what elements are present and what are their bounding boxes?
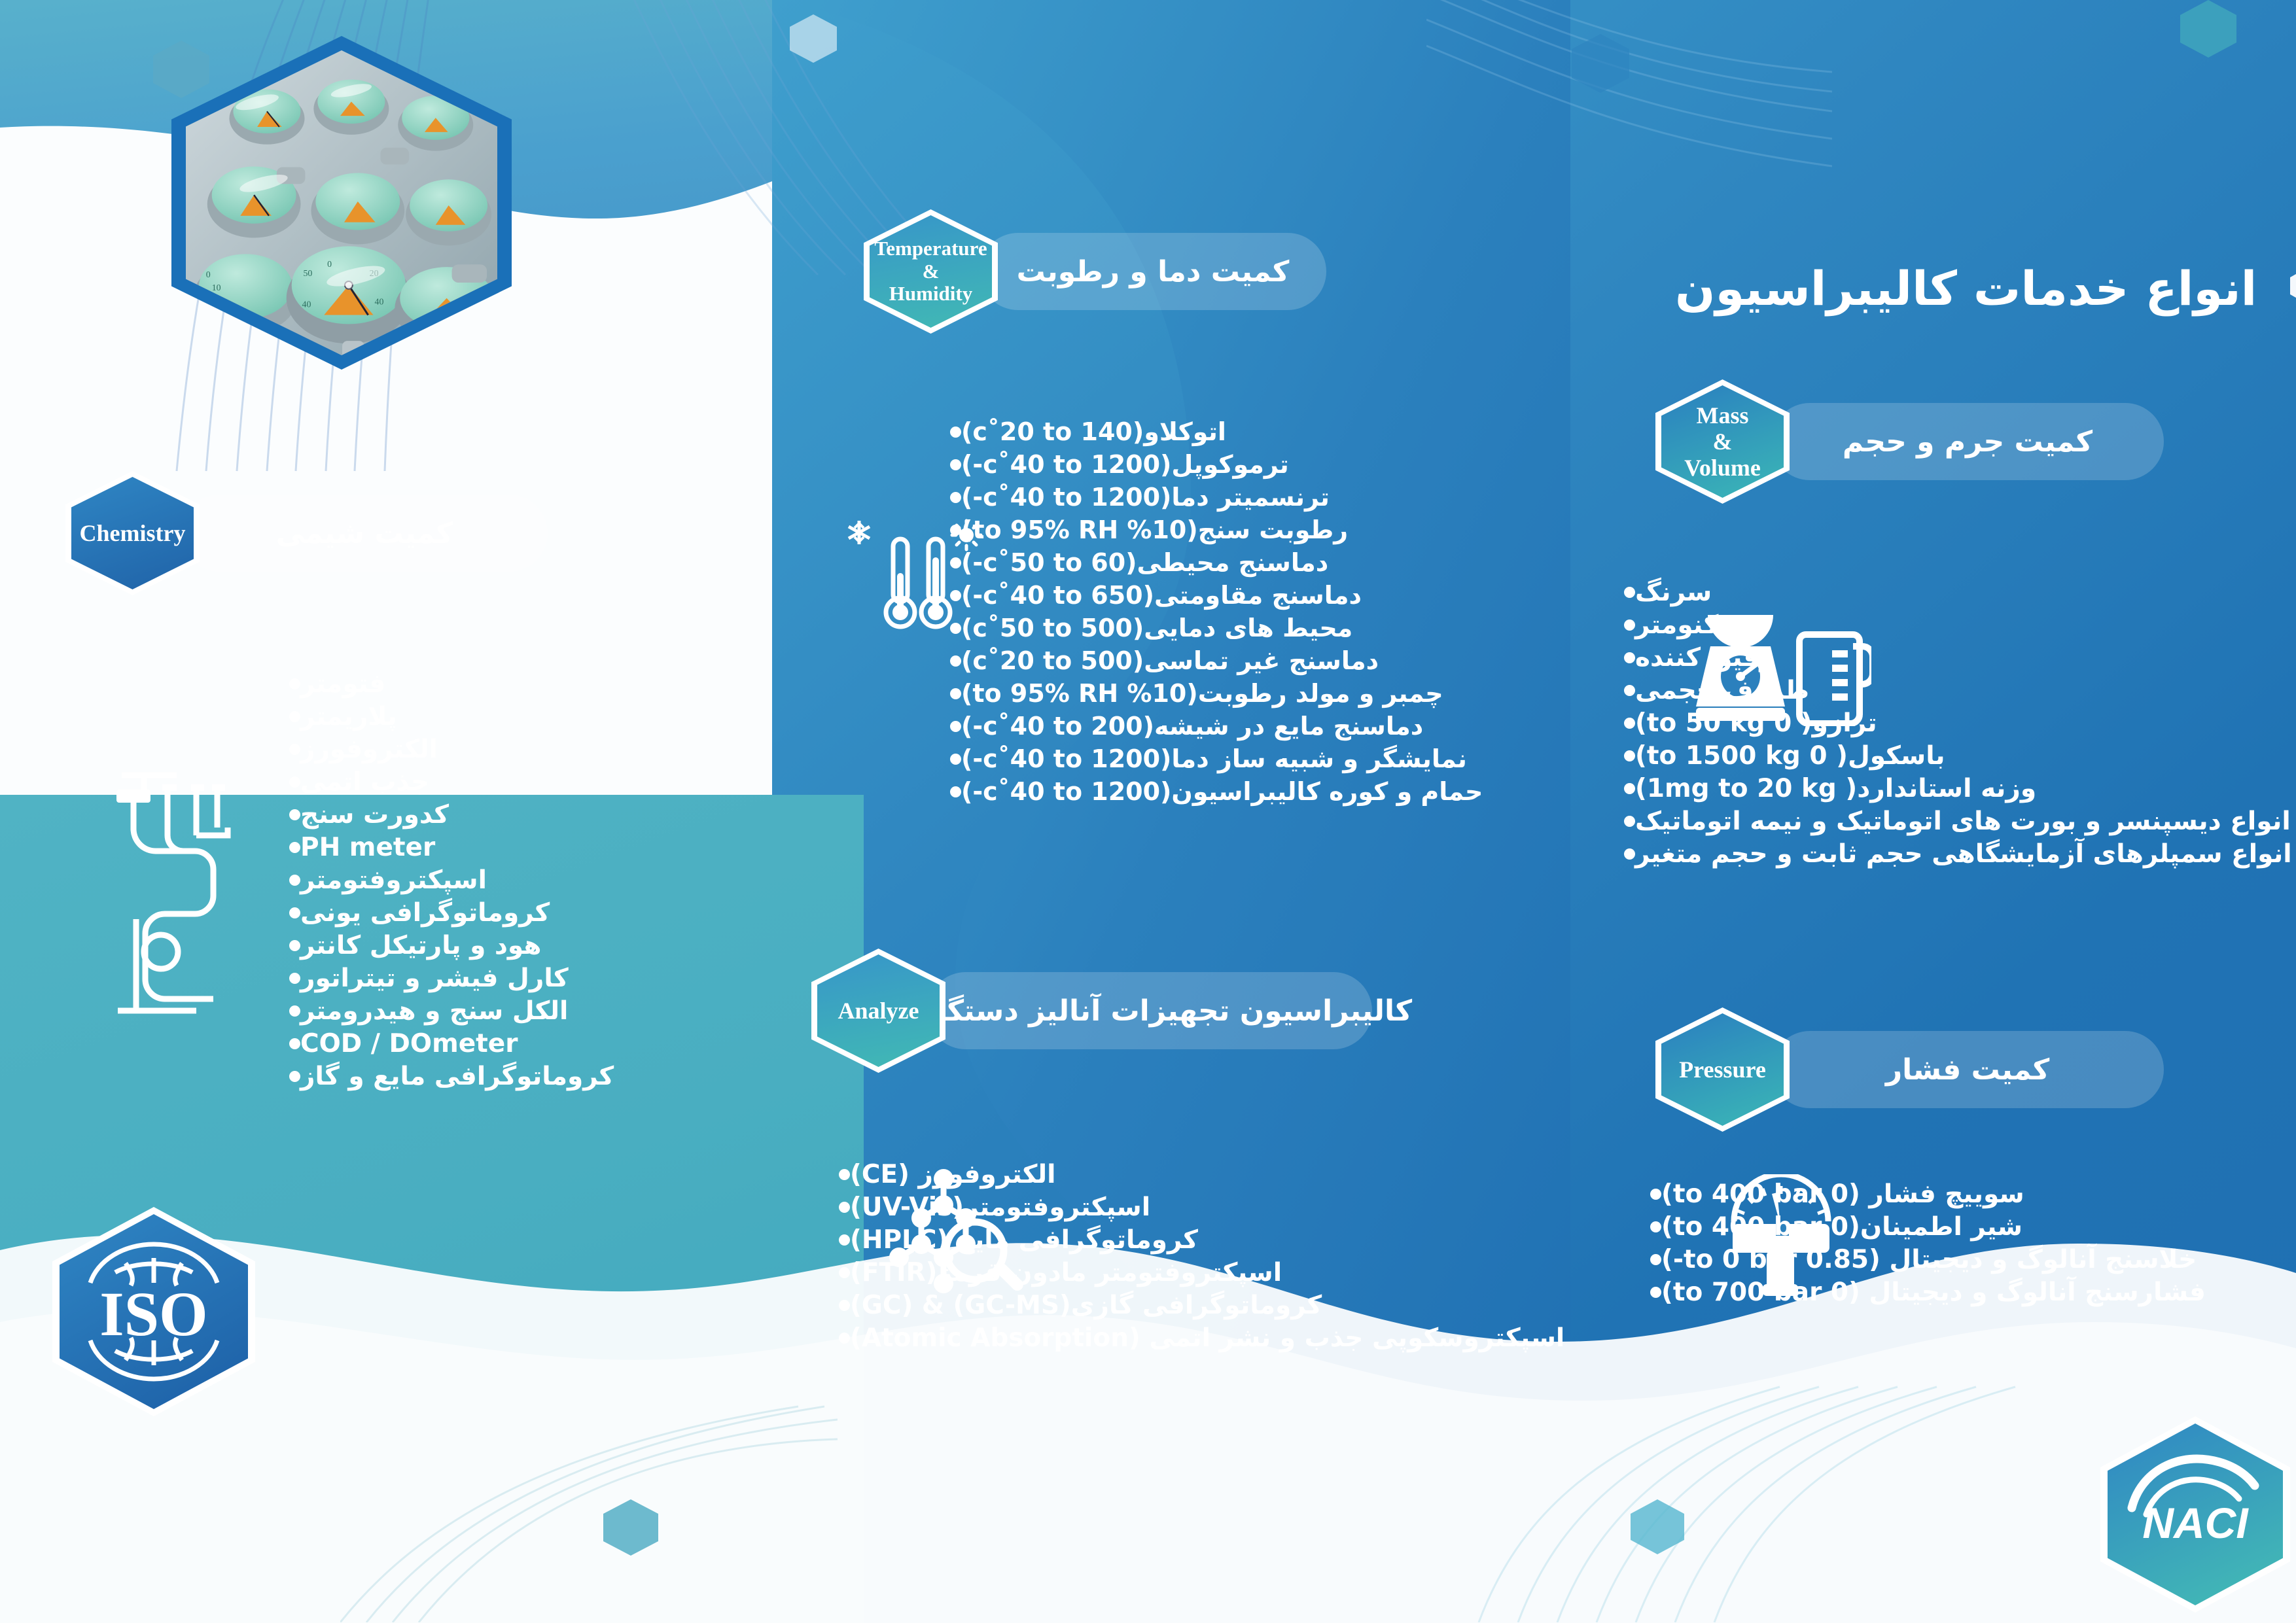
decor-hexagon-5 (602, 1498, 660, 1557)
list-item: دماسنج مقاومتی(c˚40 to 650-) (936, 579, 1459, 612)
list-item-label: کارل فیشر و تیتراتور (300, 964, 569, 993)
list-item: جذب اتمی (275, 765, 641, 798)
list-item-label: کروماتوگرافی گازی(GC-MS) & (GC) (850, 1291, 1322, 1320)
hero-photo-hexagon: 010 2030 5040 2040 0 (171, 36, 512, 370)
analyze-badge[interactable]: Analyze (811, 949, 945, 1073)
list-item: حمام و کوره کالیبراسیون(c˚40 to 1200-) (936, 775, 1459, 808)
mass-volume-badge[interactable]: Mass & Volume (1655, 379, 1790, 504)
bullet-dot (289, 678, 300, 689)
list-item-label: سرنگ (1635, 578, 1712, 607)
bullet-dot (289, 1071, 300, 1082)
list-item-label: خلاسنج آنالوگ و دیجیتال (0.85 to 0 bar-) (1661, 1245, 2197, 1274)
pressure-badge-label: Pressure (1679, 1056, 1766, 1083)
chemistry-list: فتومترپلاریمترالکتروفورزجذب اتمیکدورت سن… (275, 667, 641, 1092)
bullet-dot (1650, 1254, 1661, 1265)
list-item: اسپکتروفتومتر(UV-Vis) (824, 1191, 1446, 1223)
list-item: رقیق کننده (1610, 641, 2277, 674)
svg-text:0: 0 (206, 270, 211, 280)
list-item: پلاریمتر (275, 700, 641, 733)
bullet-dot (289, 973, 300, 984)
bullet-dot (289, 1005, 300, 1017)
list-item: ترنسمیتر دما(c˚40 to 1200-) (936, 481, 1459, 514)
bullet-dot (1624, 848, 1635, 860)
list-item-label: اتوکلاو(c˚20 to 140) (961, 417, 1226, 446)
temperature-pill-label: کمیت دما و رطوبت (1017, 255, 1290, 288)
list-item-label: کدورت سنج (300, 800, 449, 829)
list-item-label: پلاریمتر (300, 702, 397, 731)
list-item: الکل سنج و هیدرومتر (275, 994, 641, 1027)
mass-volume-badge-line3: Volume (1684, 455, 1761, 481)
list-item-label: کروماتوگرافی مایع و گاز (300, 1062, 614, 1091)
decor-hexagon-4 (2179, 0, 2238, 59)
pressure-pill[interactable]: کمیت فشار (1771, 1031, 2164, 1108)
bullet-dot (839, 1169, 850, 1180)
list-item-label: انواع دیسپنسر و بورت های اتوماتیک و نیمه… (1635, 807, 2291, 836)
bullet-dot (950, 655, 961, 667)
list-item: پیکنومتر (1610, 608, 2277, 641)
section-header-chemistry[interactable]: کمیت شیمی Chemistry (65, 484, 548, 582)
analyze-pill-label: کالیبراسیون تجهیزات آنالیز دستگاهی (887, 994, 1412, 1028)
chemistry-badge-line1: Chemistry (80, 520, 186, 546)
list-item: باسکول( 0 to 1500 kg) (1610, 739, 2277, 772)
temperature-pill[interactable]: کمیت دما و رطوبت (980, 233, 1326, 310)
list-item-label: رقیق کننده (1635, 643, 1775, 672)
list-item: سرنگ (1610, 576, 2277, 608)
temperature-badge-line1: Temperature (874, 237, 987, 260)
decor-hexagon-3 (1570, 33, 1631, 94)
list-item: کروماتوگرافی یونی (275, 896, 641, 929)
list-item-label: ترنسمیتر دما(c˚40 to 1200-) (961, 483, 1330, 512)
bullet-dot (950, 459, 961, 470)
pressure-pill-label: کمیت فشار (1886, 1053, 2049, 1087)
list-item-label: الکل سنج و هیدرومتر (300, 996, 568, 1026)
list-item-label: ترازو( 0 to 50 kg) (1635, 708, 1877, 738)
mass-volume-pill[interactable]: کمیت جرم و حجم (1771, 403, 2164, 480)
list-item: دماسنج غیر تماسی(c˚20 to 500) (936, 644, 1459, 677)
list-item-label: وزنه استاندارد( 1mg to 20 kg) (1635, 774, 2036, 803)
bullet-dot (950, 721, 961, 732)
analyze-pill[interactable]: کالیبراسیون تجهیزات آنالیز دستگاهی (927, 972, 1372, 1049)
list-item: رطوبت سنج(10% to 95% RH) (936, 514, 1459, 546)
list-item: کروماتوگرافی گازی(GC-MS) & (GC) (824, 1289, 1446, 1321)
bullet-dot (1650, 1189, 1661, 1200)
bullet-dot (289, 809, 300, 820)
list-item-label: دماسنج مقاومتی(c˚40 to 650-) (961, 581, 1362, 610)
list-item: دماسنج مایع در شیشه(c˚40 to 200-) (936, 710, 1459, 742)
bullet-dot (950, 492, 961, 503)
list-item-label: انواع سمپلرهای آزمایشگاهی حجم ثابت و حجم… (1635, 839, 2292, 869)
svg-text:40: 40 (302, 300, 311, 310)
list-item: محیط های دمایی(c˚50 to 500) (936, 612, 1459, 644)
mass-volume-badge-label: Mass & Volume (1684, 402, 1761, 481)
list-item-label: ظروف حجمی (1635, 676, 1809, 705)
pressure-badge[interactable]: Pressure (1655, 1007, 1790, 1132)
list-item: نمایشگر و شبیه ساز دما(c˚40 to 1200-) (936, 742, 1459, 775)
list-item-label: حمام و کوره کالیبراسیون(c˚40 to 1200-) (961, 777, 1483, 806)
bullet-dot (289, 940, 300, 951)
list-item-label: رطوبت سنج(10% to 95% RH) (961, 515, 1348, 544)
bullet-dot (289, 1038, 300, 1049)
list-item-label: الکتروفورز (CE) (850, 1160, 1056, 1189)
list-item: اسپکتروفتومتر مادون قرمز(FTIR) (824, 1256, 1446, 1289)
bullet-dot (950, 525, 961, 536)
chemistry-pill[interactable]: کمیت شیمی (181, 495, 548, 572)
iso-logo-text: ISO (99, 1279, 207, 1349)
list-item-label: اسپکتروفتومتر مادون قرمز(FTIR) (850, 1258, 1282, 1287)
mass-volume-pill-label: کمیت جرم و حجم (1843, 425, 2093, 459)
temperature-badge-line2: & (874, 260, 987, 283)
temperature-badge-label: Temperature & Humidity (874, 237, 987, 305)
bullet-dot (289, 842, 300, 853)
list-item-label: دماسنج مایع در شیشه(c˚40 to 200-) (961, 712, 1423, 741)
section-header-temperature[interactable]: کمیت دما و رطوبت Temperature & Humidity (864, 222, 1326, 321)
list-item: PH meter (275, 831, 641, 864)
list-item-label: باسکول( 0 to 1500 kg) (1635, 741, 1945, 771)
bullet-dot (289, 711, 300, 722)
list-item: الکتروفورز (CE) (824, 1158, 1446, 1191)
bullet-dot (1624, 652, 1635, 663)
list-item: چمبر و مولد رطوبت(10% to 95% RH) (936, 677, 1459, 710)
brochure-page: 010 2030 5040 2040 0 (0, 0, 2296, 1623)
list-item: انواع سمپلرهای آزمایشگاهی حجم ثابت و حجم… (1610, 837, 2277, 870)
bullet-dot (1624, 587, 1635, 598)
bullet-dot (839, 1300, 850, 1311)
list-item: COD / DOmeter (275, 1027, 641, 1060)
bullet-dot (1650, 1221, 1661, 1232)
list-item: کدورت سنج (275, 798, 641, 831)
svg-text:30: 30 (213, 311, 222, 321)
section-header-mass-volume[interactable]: کمیت جرم و حجم Mass & Volume (1655, 393, 2164, 491)
pressure-badge-line1: Pressure (1679, 1056, 1766, 1083)
list-item-label: ترموکوپل(c˚40 to 1200-) (961, 450, 1289, 479)
chemistry-badge[interactable]: Chemistry (65, 471, 200, 595)
list-item: ترموکوپل(c˚40 to 1200-) (936, 448, 1459, 481)
bullet-dot (289, 777, 300, 788)
section-header-analyze[interactable]: کالیبراسیون تجهیزات آنالیز دستگاهی Analy… (811, 962, 1372, 1060)
list-item-label: اسپکتروفتومتر (300, 865, 487, 895)
iso-logo: ISO (52, 1207, 255, 1416)
decor-lines-bottomright (1439, 1348, 2028, 1622)
list-item: وزنه استاندارد( 1mg to 20 kg) (1610, 772, 2277, 805)
mass-volume-list: سرنگپیکنومتررقیق کنندهظروف حجمیترازو( 0 … (1610, 576, 2277, 870)
bullet-dot (289, 744, 300, 755)
list-item: دماسنج محیطی(c˚50 to 60-) (936, 546, 1459, 579)
list-item-label: اسپکتروفتومتر(UV-Vis) (850, 1193, 1150, 1222)
iso-globe-icon: ISO (52, 1207, 255, 1416)
list-item: اتوکلاو(c˚20 to 140) (936, 415, 1459, 448)
list-item-label: دماسنج محیطی(c˚50 to 60-) (961, 548, 1328, 577)
bullet-dot (839, 1267, 850, 1278)
decor-hexagon-2 (788, 13, 838, 64)
decor-hexagon-6 (1629, 1498, 1686, 1556)
bullet-dot (1624, 816, 1635, 827)
list-item: سوییچ فشار (0 to 400 bar) (1636, 1178, 2290, 1210)
list-item: اسپکتروسکوپی جذب و نشر اتمی (Atomic Abso… (824, 1321, 1446, 1354)
bullet-dot (950, 754, 961, 765)
svg-text:50: 50 (304, 269, 313, 279)
list-item: الکتروفورز (275, 733, 641, 765)
list-item-label: هود و پارتیکل کانتر (300, 931, 541, 960)
page-title: انواع خدمات کالیبراسیون (1675, 252, 2296, 325)
bullet-dot (950, 623, 961, 634)
list-item: فشارسنج آنالوگ و دیجیتال (0 to 700 bar) (1636, 1276, 2290, 1308)
analyze-badge-label: Analyze (838, 998, 919, 1024)
bullet-dot (950, 557, 961, 568)
list-item-label: نمایشگر و شبیه ساز دما(c˚40 to 1200-) (961, 744, 1467, 773)
list-item: کارل فیشر و تیتراتور (275, 962, 641, 994)
list-item-label: COD / DOmeter (300, 1029, 518, 1058)
decor-lines-bottomleft (340, 1361, 838, 1622)
svg-text:0: 0 (327, 260, 332, 270)
list-item-label: پیکنومتر (1635, 610, 1739, 640)
analyze-list: الکتروفورز (CE)اسپکتروفتومتر(UV-Vis)کروم… (824, 1158, 1446, 1354)
analyze-badge-line1: Analyze (838, 998, 919, 1024)
list-item-label: الکتروفورز (300, 735, 438, 764)
bullet-dot (289, 875, 300, 886)
chemistry-pill-label: کمیت شیمی (276, 517, 453, 550)
mass-volume-badge-line2: & (1684, 428, 1761, 455)
bullet-dot (1624, 750, 1635, 761)
bullet-dot (839, 1333, 850, 1344)
bullet-dot (289, 907, 300, 918)
list-item-label: فشارسنج آنالوگ و دیجیتال (0 to 700 bar) (1661, 1278, 2206, 1307)
chemistry-badge-label: Chemistry (80, 520, 186, 546)
bullet-dot (839, 1234, 850, 1246)
list-item-label: سوییچ فشار (0 to 400 bar) (1661, 1179, 2024, 1209)
bullet-dot (950, 427, 961, 438)
bullet-dot (1624, 685, 1635, 696)
list-item-label: اسپکتروسکوپی جذب و نشر اتمی (Atomic Abso… (850, 1323, 1564, 1353)
list-item: اسپکتروفتومتر (275, 864, 641, 896)
list-item-label: محیط های دمایی(c˚50 to 500) (961, 614, 1352, 642)
temperature-badge-line3: Humidity (874, 283, 987, 305)
naci-logo: NACI (2100, 1416, 2290, 1613)
bullet-dot (1624, 718, 1635, 729)
list-item: کروماتوگرافی مایع و گاز (275, 1060, 641, 1092)
pressure-list: سوییچ فشار (0 to 400 bar)شیر اطمینان(0 t… (1636, 1178, 2290, 1308)
naci-logo-text: NACI (2142, 1499, 2249, 1547)
list-item: ظروف حجمی (1610, 674, 2277, 707)
list-item-label: کروماتوگرافی مایع (HPLC) (850, 1225, 1198, 1255)
lab-distillation-apparatus-icon (105, 756, 275, 1030)
bullet-dot (1624, 620, 1635, 631)
list-item-label: چمبر و مولد رطوبت(10% to 95% RH) (961, 679, 1443, 708)
bullet-dot (839, 1202, 850, 1213)
list-item: فتومتر (275, 667, 641, 700)
bullet-dot (950, 786, 961, 797)
list-item: خلاسنج آنالوگ و دیجیتال (0.85 to 0 bar-) (1636, 1243, 2290, 1276)
section-header-pressure[interactable]: کمیت فشار Pressure (1655, 1021, 2164, 1119)
list-item: هود و پارتیکل کانتر (275, 929, 641, 962)
mass-volume-badge-line1: Mass (1684, 402, 1761, 428)
list-item: ترازو( 0 to 50 kg) (1610, 707, 2277, 739)
svg-text:10: 10 (212, 283, 221, 293)
bullet-dot (1624, 783, 1635, 794)
temperature-badge[interactable]: Temperature & Humidity (864, 209, 998, 334)
list-item-label: جذب اتمی (300, 767, 429, 797)
list-item: شیر اطمینان(0 to 400 bar) (1636, 1210, 2290, 1243)
temperature-list: اتوکلاو(c˚20 to 140)ترموکوپل(c˚40 to 120… (936, 415, 1459, 808)
list-item: کروماتوگرافی مایع (HPLC) (824, 1223, 1446, 1256)
list-item-label: فتومتر (300, 669, 385, 699)
bullet-dot (1650, 1287, 1661, 1298)
list-item: انواع دیسپنسر و بورت های اتوماتیک و نیمه… (1610, 805, 2277, 837)
list-item-label: PH meter (300, 833, 435, 862)
bullet-dot (950, 688, 961, 699)
naci-arc-icon: NACI (2100, 1416, 2290, 1613)
page-title-text: انواع خدمات کالیبراسیون (1675, 261, 2257, 316)
list-item-label: شیر اطمینان(0 to 400 bar) (1661, 1212, 2022, 1242)
bullet-dot (950, 590, 961, 601)
list-item-label: دماسنج غیر تماسی(c˚20 to 500) (961, 646, 1379, 675)
list-item-label: کروماتوگرافی یونی (300, 898, 550, 928)
svg-text:40: 40 (375, 298, 384, 307)
hexagon-cluster-logo-icon (2279, 252, 2296, 325)
